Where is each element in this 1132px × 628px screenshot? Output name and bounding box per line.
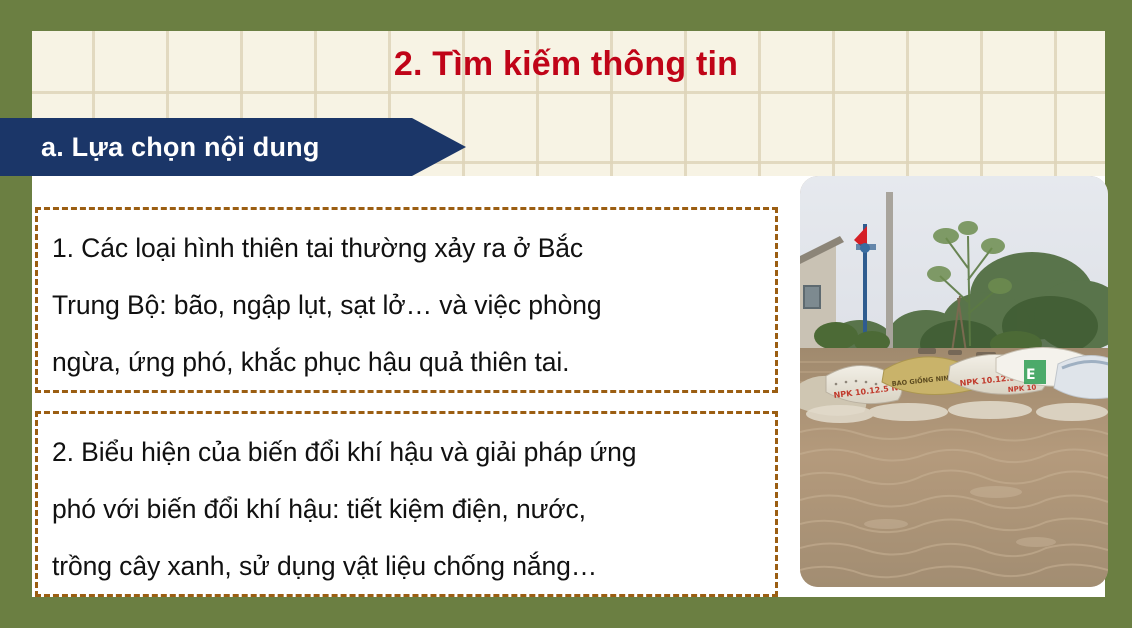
section-banner: a. Lựa chọn nội dung [0, 118, 466, 176]
content-box-1-line-3: ngừa, ứng phó, khắc phục hậu quả thiên t… [52, 334, 761, 391]
content-box-1-line-1: 1. Các loại hình thiên tai thường xảy ra… [52, 220, 761, 277]
content-box-2-line-1: 2. Biểu hiện của biến đổi khí hậu và giả… [52, 424, 761, 481]
flood-photo-illustration: NPK 10.12.5 NINH BÌNH BAO GIỐNG NINH - C… [800, 176, 1108, 587]
svg-text:E: E [1026, 367, 1036, 383]
content-box-2-line-3: trồng cây xanh, sử dụng vật liệu chống n… [52, 538, 761, 595]
flood-photo: NPK 10.12.5 NINH BÌNH BAO GIỐNG NINH - C… [800, 176, 1108, 587]
content-box-1-line-2: Trung Bộ: bão, ngập lụt, sạt lở… và việc… [52, 277, 761, 334]
page-title: 2. Tìm kiếm thông tin [0, 45, 1132, 84]
content-box-2-line-2: phó với biến đổi khí hậu: tiết kiệm điện… [52, 481, 761, 538]
section-banner-label: a. Lựa chọn nội dung [41, 132, 320, 163]
content-box-1: 1. Các loại hình thiên tai thường xảy ra… [35, 207, 778, 393]
content-box-2: 2. Biểu hiện của biến đổi khí hậu và giả… [35, 411, 778, 597]
slide-canvas: 2. Tìm kiếm thông tin a. Lựa chọn nội du… [0, 0, 1132, 628]
